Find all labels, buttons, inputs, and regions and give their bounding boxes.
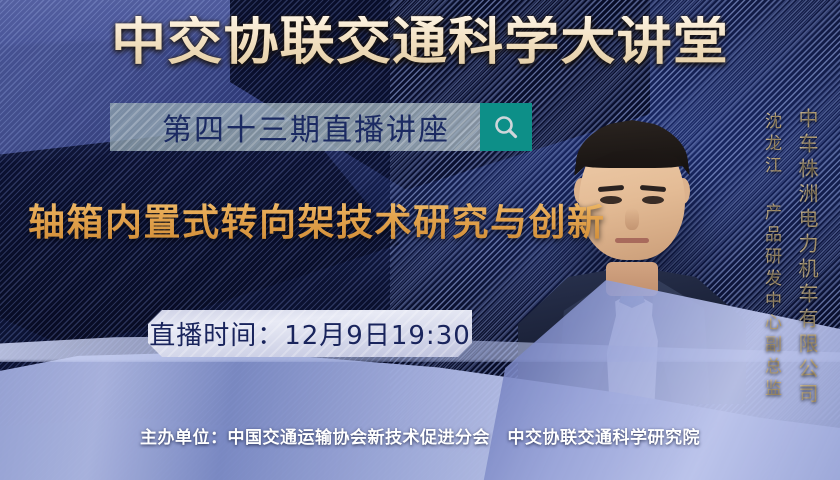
search-icon: [492, 113, 520, 141]
broadcast-time-badge: 直播时间：12月9日19:30: [148, 310, 472, 357]
search-button[interactable]: [480, 103, 532, 151]
portrait-eye-right: [642, 196, 664, 204]
broadcast-time-text: 直播时间：12月9日19:30: [149, 315, 471, 352]
organizers-footer: 主办单位：中国交通运输协会新技术促进分会 中交协联交通科学研究院: [0, 423, 840, 448]
page-title: 中交协联交通科学大讲堂: [0, 16, 840, 68]
speaker-company: 中车株洲电力机车有限公司: [793, 108, 822, 408]
live-broadcast-poster: 中交协联交通科学大讲堂 第四十三期直播讲座 轴箱内置式转向架技术研究与创新 直播…: [0, 0, 840, 480]
lecture-topic: 轴箱内置式转向架技术研究与创新: [28, 192, 608, 246]
speaker-name-title: 沈龙江 产品研发中心副总监: [759, 112, 784, 401]
portrait-nose: [625, 208, 639, 230]
portrait-mouth: [615, 238, 649, 243]
episode-search-bar[interactable]: 第四十三期直播讲座: [110, 103, 532, 151]
episode-label: 第四十三期直播讲座: [110, 105, 480, 149]
